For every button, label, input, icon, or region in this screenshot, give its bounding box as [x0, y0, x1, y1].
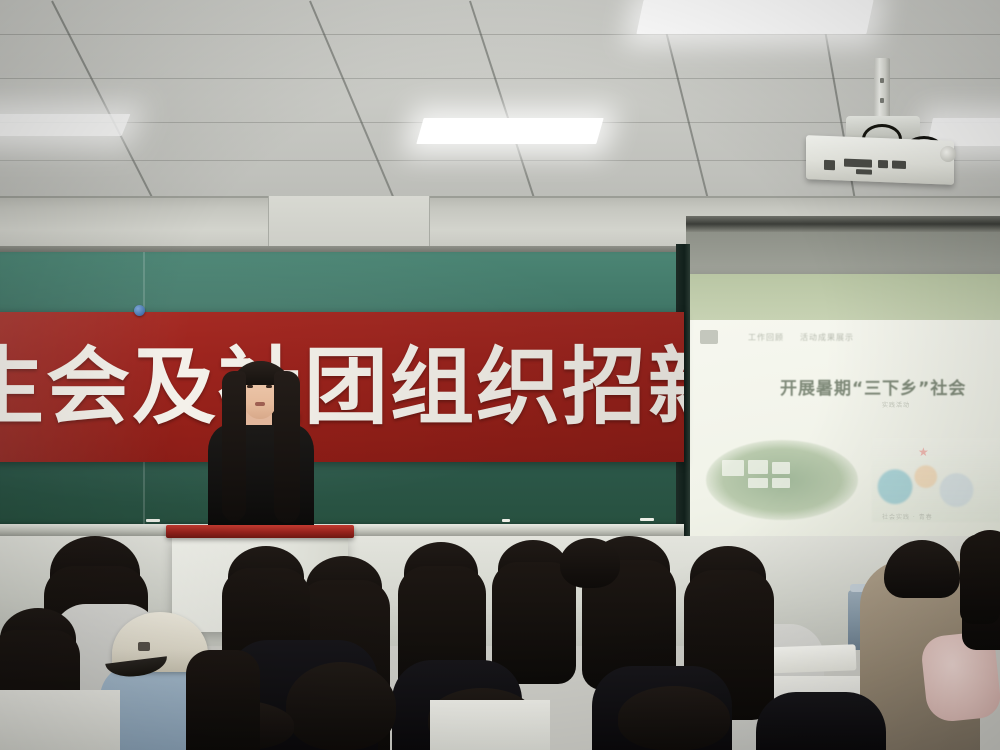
slide-photo-left-detail — [772, 462, 790, 474]
student-hair — [492, 562, 576, 684]
projector-port — [856, 169, 872, 175]
projector-mount-bolt — [880, 98, 884, 103]
projector-mount-bolt — [880, 78, 884, 83]
speaker-mouth — [255, 402, 265, 406]
slide-subtitle: 实践活动 — [882, 400, 910, 409]
projection-screen-top-shadow — [686, 232, 1000, 274]
student-hair — [960, 534, 1000, 624]
slide-photo-left-detail — [748, 460, 768, 474]
slide-nav-left: 工作回顾 — [748, 332, 784, 343]
student-head — [618, 686, 730, 750]
speaker-eye — [247, 385, 253, 388]
ceiling-light-panel — [636, 0, 873, 34]
student-head — [286, 662, 396, 750]
desk-surface — [0, 690, 120, 750]
lectern-top — [166, 525, 354, 538]
slide-title: 开展暑期“三下乡”社会 — [780, 374, 966, 399]
speaker-hair-strand-right — [274, 371, 300, 523]
projection-screen: 工作回顾 活动成果展示 开展暑期“三下乡”社会 实践活动 ★ 社会实践 · 青春 — [686, 274, 1000, 560]
banner-pin-icon — [134, 305, 145, 316]
ceiling-grid-rail — [659, 7, 712, 211]
student-head — [560, 538, 620, 588]
slide-photo-left-detail — [722, 460, 744, 476]
projector-port — [892, 160, 906, 169]
slide-nav-right: 活动成果展示 — [800, 332, 854, 343]
projector-mount-pole — [874, 58, 890, 120]
projector-port — [824, 160, 835, 170]
list-item — [756, 692, 886, 750]
projection-screen-housing — [686, 216, 1000, 232]
ceiling-light-panel — [416, 118, 603, 144]
star-icon: ★ — [918, 446, 930, 458]
projector-port — [878, 160, 888, 168]
slide-photo-left-detail — [748, 478, 768, 488]
slide-top-band — [686, 274, 1000, 320]
cap-logo-icon — [138, 642, 150, 651]
ceiling-grid-rail — [51, 1, 162, 216]
projector-lens — [940, 146, 956, 162]
slide-footer-text: 社会实践 · 青春 — [882, 512, 933, 521]
chalk-piece — [502, 519, 510, 522]
classroom-photo: 工作回顾 活动成果展示 开展暑期“三下乡”社会 实践活动 ★ 社会实践 · 青春… — [0, 0, 1000, 750]
banner-text: 生会及社团组织招新宣讲 — [0, 338, 684, 436]
speaker-hair-strand-left — [222, 371, 246, 521]
white-papers — [760, 644, 857, 673]
ceiling-projector — [806, 135, 954, 185]
slide-logo-icon — [700, 330, 718, 344]
speaker-eye — [266, 385, 272, 388]
student-hair — [186, 650, 260, 750]
chalk-piece — [146, 519, 160, 522]
projector-port — [844, 159, 872, 168]
slide-photo-left-detail — [772, 478, 790, 488]
slide-illustration-right — [872, 438, 1000, 522]
ceiling-light-panel — [0, 114, 130, 136]
red-recruitment-banner: 生会及社团组织招新宣讲 — [0, 312, 684, 462]
desk-surface — [430, 700, 550, 750]
student-presenter — [186, 355, 336, 545]
chalk-piece — [640, 518, 654, 521]
